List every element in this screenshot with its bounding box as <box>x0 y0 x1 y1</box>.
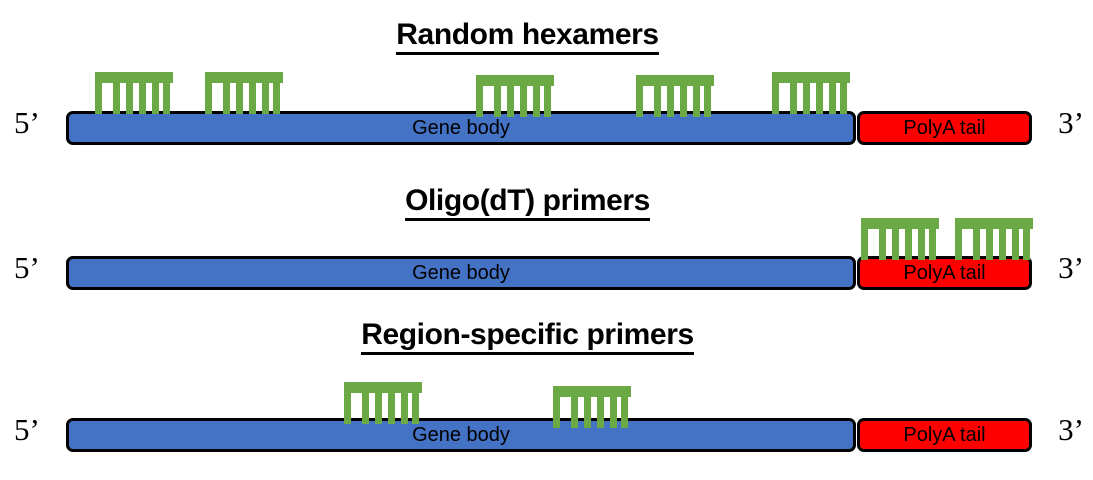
strand-oligo-dt-primers: 5’3’Gene bodyPolyA tail <box>66 256 1032 290</box>
three-prime-label: 3’ <box>1058 106 1084 140</box>
primer-base-3 <box>999 229 1006 260</box>
gene-body-segment: Gene body <box>66 111 856 145</box>
three-prime-label: 3’ <box>1058 251 1084 285</box>
primer-base-1 <box>223 83 230 114</box>
primer-base-5 <box>544 86 551 117</box>
primer-base-4 <box>152 83 159 114</box>
five-prime-label: 5’ <box>14 251 40 285</box>
primer-base-3 <box>139 83 146 114</box>
panel-title-oligo-dt-primers: Oligo(dT) primers <box>0 184 1055 221</box>
panel-title-region-specific-primers: Region-specific primers <box>0 318 1055 355</box>
figure-canvas: Random hexamers5’3’Gene bodyPolyA tailOl… <box>0 0 1093 480</box>
five-prime-label: 5’ <box>14 106 40 140</box>
primer-base-6 <box>955 229 962 260</box>
primer-base-4 <box>262 83 269 114</box>
primer-base-4 <box>693 86 700 117</box>
primer-base-5 <box>273 83 280 114</box>
primer-backbone <box>955 218 1033 229</box>
primer-base-6 <box>344 393 351 424</box>
primer-base-1 <box>571 397 578 428</box>
primer-base-1 <box>973 229 980 260</box>
primer-base-6 <box>772 83 779 114</box>
primer-base-6 <box>636 86 643 117</box>
primer-backbone <box>205 72 283 83</box>
panel-title-text: Random hexamers <box>396 19 658 55</box>
primer-base-6 <box>553 397 560 428</box>
primer-base-2 <box>507 86 514 117</box>
primer-base-2 <box>667 86 674 117</box>
primer-base-4 <box>918 229 925 260</box>
primer-base-3 <box>388 393 395 424</box>
primer-base-1 <box>879 229 886 260</box>
primer-base-4 <box>610 397 617 428</box>
primer-base-2 <box>375 393 382 424</box>
primer-backbone <box>553 386 631 397</box>
primer-random-hexamers-4 <box>636 75 714 117</box>
primer-base-5 <box>163 83 170 114</box>
primer-random-hexamers-3 <box>476 75 554 117</box>
primer-base-1 <box>790 83 797 114</box>
primer-base-5 <box>1023 229 1030 260</box>
primer-base-2 <box>803 83 810 114</box>
primer-base-4 <box>401 393 408 424</box>
panel-title-text: Region-specific primers <box>361 319 694 355</box>
primer-base-3 <box>249 83 256 114</box>
primer-base-3 <box>905 229 912 260</box>
primer-random-hexamers-1 <box>95 72 173 114</box>
three-prime-label: 3’ <box>1058 413 1084 447</box>
primer-base-2 <box>986 229 993 260</box>
primer-base-2 <box>236 83 243 114</box>
primer-base-6 <box>476 86 483 117</box>
primer-base-2 <box>126 83 133 114</box>
primer-backbone <box>344 382 422 393</box>
primer-base-6 <box>205 83 212 114</box>
primer-base-1 <box>113 83 120 114</box>
primer-base-2 <box>584 397 591 428</box>
strand-region-specific-primers: 5’3’Gene bodyPolyA tail <box>66 418 1032 452</box>
primer-backbone <box>636 75 714 86</box>
primer-base-3 <box>520 86 527 117</box>
primer-random-hexamers-5 <box>772 72 850 114</box>
five-prime-label: 5’ <box>14 413 40 447</box>
primer-backbone <box>772 72 850 83</box>
primer-oligo-dt-primers-2 <box>955 218 1033 260</box>
primer-random-hexamers-2 <box>205 72 283 114</box>
primer-base-1 <box>654 86 661 117</box>
primer-base-5 <box>704 86 711 117</box>
primer-backbone <box>476 75 554 86</box>
primer-base-5 <box>840 83 847 114</box>
primer-base-1 <box>362 393 369 424</box>
primer-backbone <box>861 218 939 229</box>
primer-region-specific-primers-1 <box>344 382 422 424</box>
primer-base-1 <box>494 86 501 117</box>
primer-region-specific-primers-2 <box>553 386 631 428</box>
gene-body-segment: Gene body <box>66 418 856 452</box>
primer-base-3 <box>597 397 604 428</box>
panel-title-random-hexamers: Random hexamers <box>0 18 1055 55</box>
primer-base-5 <box>929 229 936 260</box>
panel-title-text: Oligo(dT) primers <box>405 185 650 221</box>
gene-body-segment: Gene body <box>66 256 856 290</box>
primer-base-6 <box>861 229 868 260</box>
primer-base-3 <box>816 83 823 114</box>
polya-tail-segment: PolyA tail <box>857 111 1032 145</box>
primer-base-4 <box>829 83 836 114</box>
primer-base-3 <box>680 86 687 117</box>
primer-base-4 <box>1012 229 1019 260</box>
polya-tail-segment: PolyA tail <box>857 256 1032 290</box>
primer-base-2 <box>892 229 899 260</box>
polya-tail-segment: PolyA tail <box>857 418 1032 452</box>
primer-base-5 <box>621 397 628 428</box>
primer-base-6 <box>95 83 102 114</box>
primer-base-4 <box>533 86 540 117</box>
primer-oligo-dt-primers-1 <box>861 218 939 260</box>
primer-backbone <box>95 72 173 83</box>
primer-base-5 <box>412 393 419 424</box>
